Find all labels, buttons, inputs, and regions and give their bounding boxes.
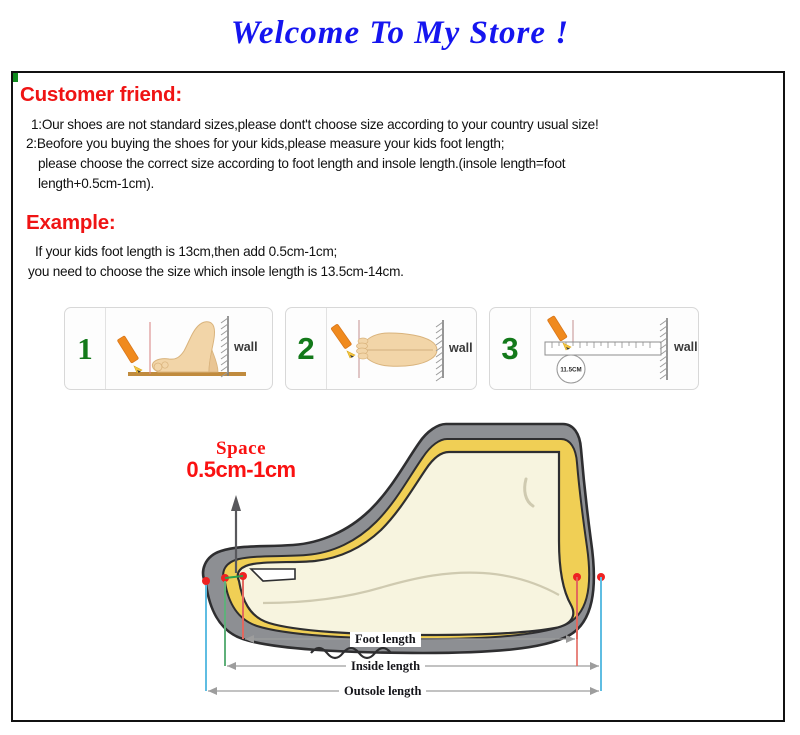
customer-friend-heading: Customer friend:: [20, 85, 182, 106]
step-card-1: 1: [64, 307, 273, 390]
pencil-icon: [117, 336, 142, 373]
info-panel: Customer friend: 1:Our shoes are not sta…: [11, 71, 785, 722]
step-number-cell-2: 2: [286, 308, 327, 389]
step-illustration-1: wall: [106, 308, 273, 389]
pencil-icon: [331, 324, 355, 358]
label-outsole-length: Outsole length: [339, 684, 426, 699]
step-number-cell-3: 3: [490, 308, 531, 389]
space-callout: Space 0.5cm-1cm: [151, 439, 331, 482]
step-card-3: 3: [489, 307, 699, 390]
example-line-2: you need to choose the size which insole…: [28, 265, 404, 279]
page-header: Welcome To My Store !: [0, 0, 800, 66]
step-card-2: 2: [285, 307, 477, 390]
example-heading: Example:: [26, 213, 116, 234]
example-line-1: If your kids foot length is 13cm,then ad…: [35, 245, 337, 259]
notice-line-2: 2:Beofore you buying the shoes for your …: [26, 137, 504, 151]
notice-line-3: please choose the correct size according…: [38, 157, 565, 171]
label-inside-length: Inside length: [346, 659, 425, 674]
step-number-3: 3: [501, 333, 518, 364]
measure-steps: 1: [64, 307, 699, 390]
space-callout-word: Space: [151, 439, 331, 459]
page-title: Welcome To My Store !: [231, 15, 569, 52]
step-illustration-3: 11.5CM: [531, 308, 699, 389]
notice-line-4: length+0.5cm-1cm).: [38, 177, 154, 191]
step-number-cell-1: 1: [65, 308, 106, 389]
label-foot-length: Foot length: [350, 632, 421, 647]
shoe-measurement-diagram: Space 0.5cm-1cm Foot length Inside lengt…: [143, 391, 663, 716]
corner-accent-mark: [13, 73, 18, 82]
ruler-reading-text: 11.5CM: [560, 367, 581, 374]
notice-line-1: 1:Our shoes are not standard sizes,pleas…: [31, 118, 599, 132]
point-outsole-front: [202, 577, 210, 585]
space-callout-value: 0.5cm-1cm: [151, 459, 331, 482]
wall-label-2: wall: [449, 341, 473, 355]
step-number-2: 2: [297, 333, 314, 364]
wall-label-1: wall: [234, 340, 258, 354]
wall-label-3: wall: [674, 340, 698, 354]
step-number-1: 1: [77, 333, 93, 364]
step-illustration-2: wall: [327, 308, 477, 389]
